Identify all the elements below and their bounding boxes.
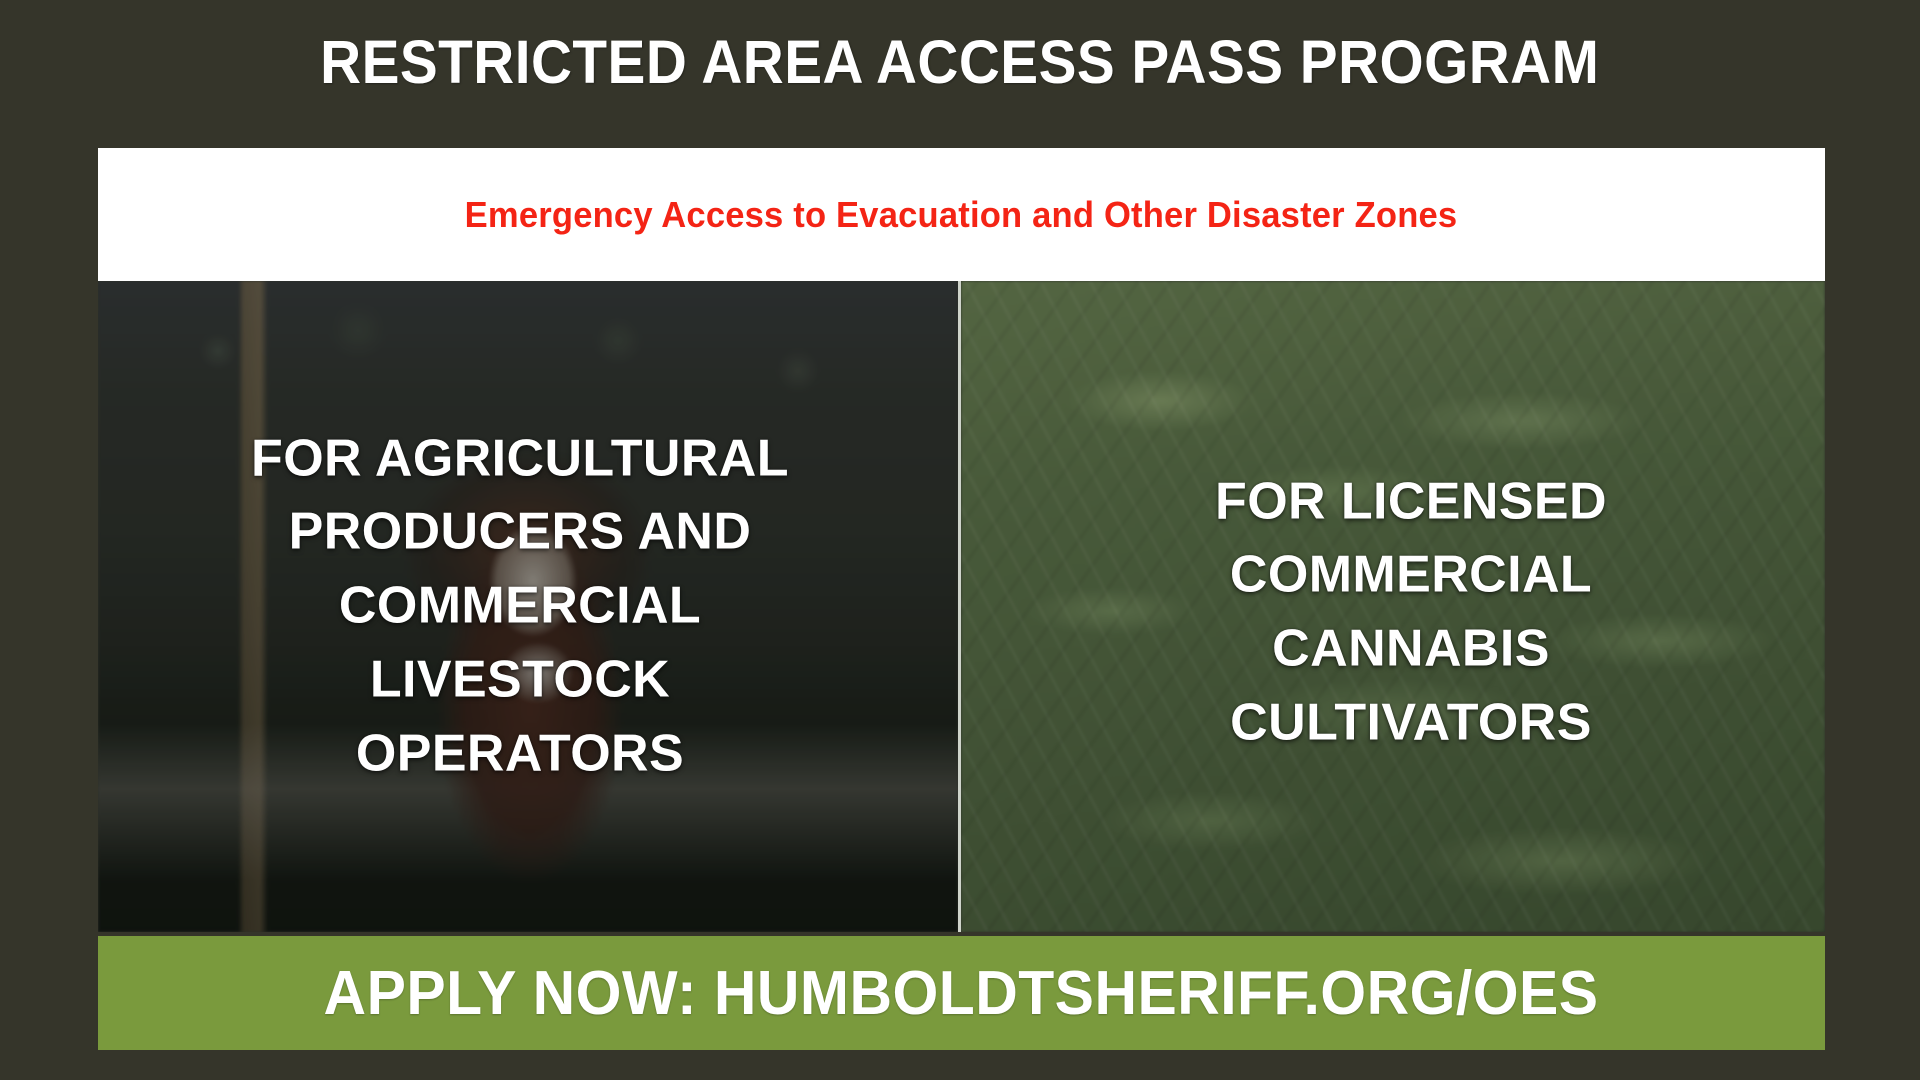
caption-line: LIVESTOCK [150,643,890,717]
panels-row: FOR AGRICULTURAL PRODUCERS AND COMMERCIA… [98,281,1825,932]
subtitle-text: Emergency Access to Evacuation and Other… [465,194,1458,236]
page-title: RESTRICTED AREA ACCESS PASS PROGRAM [320,30,1599,94]
poster-title-bar: RESTRICTED AREA ACCESS PASS PROGRAM [0,30,1920,94]
panel-agricultural: FOR AGRICULTURAL PRODUCERS AND COMMERCIA… [98,281,958,932]
caption-line: COMMERCIAL [1061,539,1761,613]
panel-agricultural-caption: FOR AGRICULTURAL PRODUCERS AND COMMERCIA… [150,422,890,791]
caption-line: FOR AGRICULTURAL [150,422,890,496]
apply-now-url-text[interactable]: APPLY NOW: HUMBOLDTSHERIFF.ORG/OES [324,958,1599,1029]
caption-line: PRODUCERS AND [150,496,890,570]
panel-cannabis: FOR LICENSED COMMERCIAL CANNABIS CULTIVA… [961,281,1825,932]
poster-canvas: RESTRICTED AREA ACCESS PASS PROGRAM Emer… [0,0,1920,1080]
panel-cannabis-caption: FOR LICENSED COMMERCIAL CANNABIS CULTIVA… [1061,465,1761,760]
subtitle-band: Emergency Access to Evacuation and Other… [98,148,1825,281]
caption-line: COMMERCIAL [150,570,890,644]
apply-now-cta-bar[interactable]: APPLY NOW: HUMBOLDTSHERIFF.ORG/OES [98,936,1825,1050]
caption-line: CULTIVATORS [1061,686,1761,760]
caption-line: FOR LICENSED [1061,465,1761,539]
caption-line: CANNABIS [1061,612,1761,686]
caption-line: OPERATORS [150,717,890,791]
